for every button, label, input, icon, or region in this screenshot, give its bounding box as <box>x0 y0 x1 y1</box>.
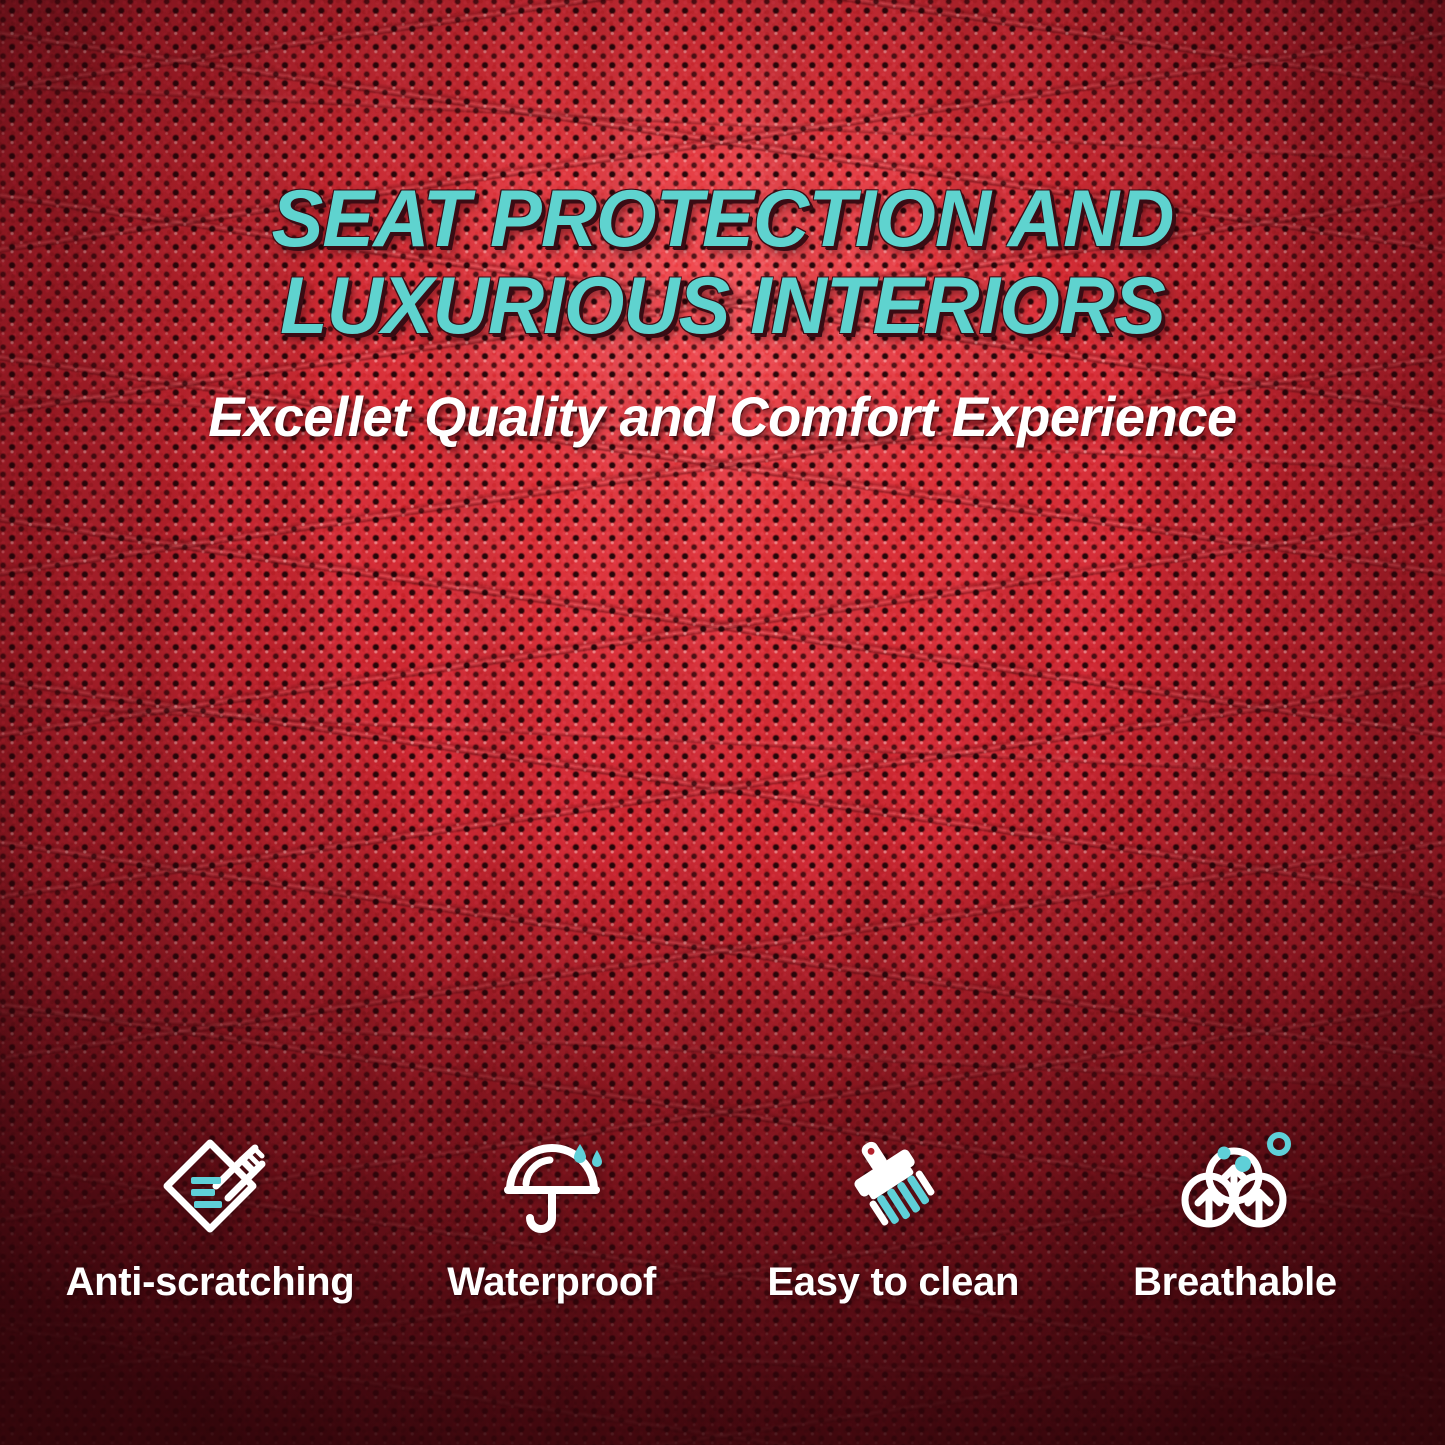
feature-label: Breathable <box>1133 1260 1337 1305</box>
scratch-resistant-icon <box>152 1128 268 1244</box>
feature-item-easy-to-clean: Easy to clean <box>743 1128 1043 1305</box>
page-subtitle: Excellet Quality and Comfort Experience <box>22 386 1424 448</box>
product-banner: SEAT PROTECTION AND LUXURIOUS INTERIORS … <box>0 0 1445 1445</box>
feature-label: Waterproof <box>447 1260 656 1305</box>
feature-item-breathable: Breathable <box>1085 1128 1385 1305</box>
umbrella-icon <box>494 1128 610 1244</box>
feature-item-waterproof: Waterproof <box>402 1128 702 1305</box>
scrub-brush-icon <box>835 1128 951 1244</box>
page-title: SEAT PROTECTION AND LUXURIOUS INTERIORS <box>29 176 1416 350</box>
feature-item-anti-scratching: Anti-scratching <box>60 1128 360 1305</box>
feature-label: Anti-scratching <box>66 1260 355 1305</box>
feature-list: Anti-scratching Waterproo <box>60 1128 1385 1305</box>
feature-label: Easy to clean <box>767 1260 1019 1305</box>
breathable-cloud-icon <box>1177 1128 1293 1244</box>
